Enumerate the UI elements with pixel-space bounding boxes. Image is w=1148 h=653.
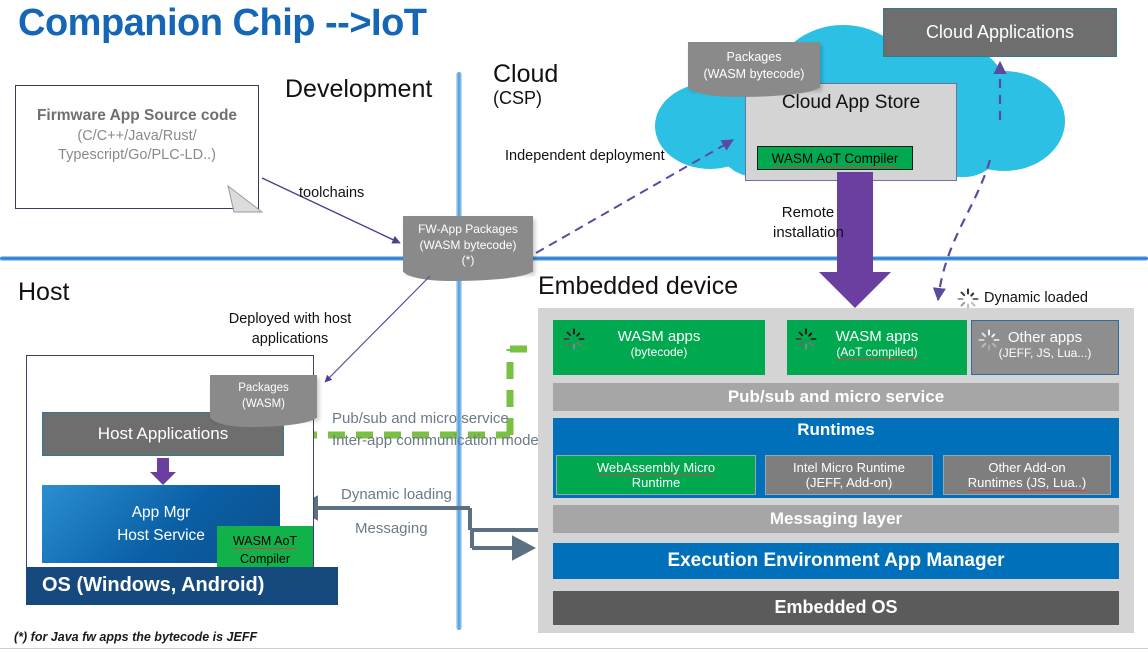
spinner-icon: [563, 328, 583, 348]
embedded-band-os: Embedded OS: [553, 591, 1119, 625]
embedded-runtime-wamr-l2: Runtime: [632, 475, 680, 490]
label-remote-installation-l1: Remote: [773, 203, 843, 223]
embedded-app-sub-0: (bytecode): [553, 345, 765, 359]
arrow-hostapps-to-appmgr: [148, 458, 178, 486]
host-app-mgr-l1: App Mgr: [42, 501, 280, 524]
embedded-runtime-other-l2: Runtimes (JS, Lua..): [968, 475, 1087, 491]
footnote: (*) for Java fw apps the bytecode is JEF…: [14, 630, 257, 644]
host-os-bar: OS (Windows, Android): [26, 567, 338, 605]
spinner-icon: [978, 329, 998, 349]
label-remote-installation-l2: installation: [773, 223, 843, 243]
label-inter-app-communication: Inter-app communication models: [332, 432, 550, 449]
label-messaging: Messaging: [355, 520, 428, 537]
embedded-band-pubsub: Pub/sub and micro service: [553, 383, 1119, 411]
callout-host-packages-line2: (WASM): [210, 397, 317, 413]
embedded-runtime-intel-l1: Intel Micro Runtime: [793, 460, 905, 475]
embedded-runtime-wamr[interactable]: WebAssembly Micro Runtime: [556, 455, 756, 495]
embedded-runtime-intel[interactable]: Intel Micro Runtime (JEFF, Add-on): [765, 455, 933, 495]
host-applications-label: Host Applications: [98, 424, 228, 443]
slide-canvas: Companion Chip -->IoT Development Cloud …: [0, 0, 1148, 653]
embedded-band-app-manager: Execution Environment App Manager: [553, 543, 1119, 579]
label-deployed-with-host: Deployed with host applications: [220, 310, 360, 349]
callout-host-packages-line1: Packages: [210, 381, 317, 397]
embedded-app-name-0: WASM apps: [553, 329, 765, 345]
embedded-runtime-wamr-l1: WebAssembly Micro: [597, 460, 715, 476]
embedded-runtime-other-l1: Other Add-on: [988, 460, 1065, 475]
embedded-band-messaging: Messaging layer: [553, 505, 1119, 533]
host-wasm-aot-compiler-box[interactable]: WASM AoT Compiler: [217, 526, 313, 570]
spinner-icon: [795, 328, 815, 348]
embedded-runtimes-title: Runtimes: [553, 420, 1119, 440]
embedded-app-tile-other-apps[interactable]: Other apps (JEFF, JS, Lua...): [971, 320, 1119, 375]
label-toolchains: toolchains: [299, 185, 364, 201]
embedded-app-tile-wasm-bytecode[interactable]: WASM apps (bytecode): [553, 320, 765, 375]
label-dynamic-loading: Dynamic loading: [341, 486, 452, 503]
embedded-runtime-other[interactable]: Other Add-on Runtimes (JS, Lua..): [943, 455, 1111, 495]
arrow-messaging: [472, 530, 530, 548]
label-remote-installation: Remote installation: [773, 203, 843, 244]
label-deployed-with-host-l2: applications: [220, 330, 360, 350]
arrow-dynamic-loaded: [938, 160, 990, 300]
embedded-runtime-intel-l2: (JEFF, Add-on): [806, 475, 893, 490]
label-independent-deployment: Independent deployment: [505, 148, 665, 164]
label-dynamic-loaded: Dynamic loaded: [984, 290, 1088, 306]
host-wasm-aot-l1: WASM AoT: [233, 534, 297, 549]
label-deployed-with-host-l1: Deployed with host: [220, 310, 360, 330]
host-os-label: OS (Windows, Android): [42, 574, 264, 596]
spinner-icon-legend: [957, 288, 979, 310]
embedded-app-sub-1: (AoT compiled): [836, 345, 917, 360]
label-pubsub-micro-service: Pub/sub and micro service: [332, 410, 509, 427]
callout-host-packages: Packages (WASM): [210, 375, 317, 418]
host-wasm-aot-l2: Compiler: [217, 550, 313, 568]
embedded-app-tile-wasm-aot[interactable]: WASM apps (AoT compiled): [787, 320, 967, 375]
